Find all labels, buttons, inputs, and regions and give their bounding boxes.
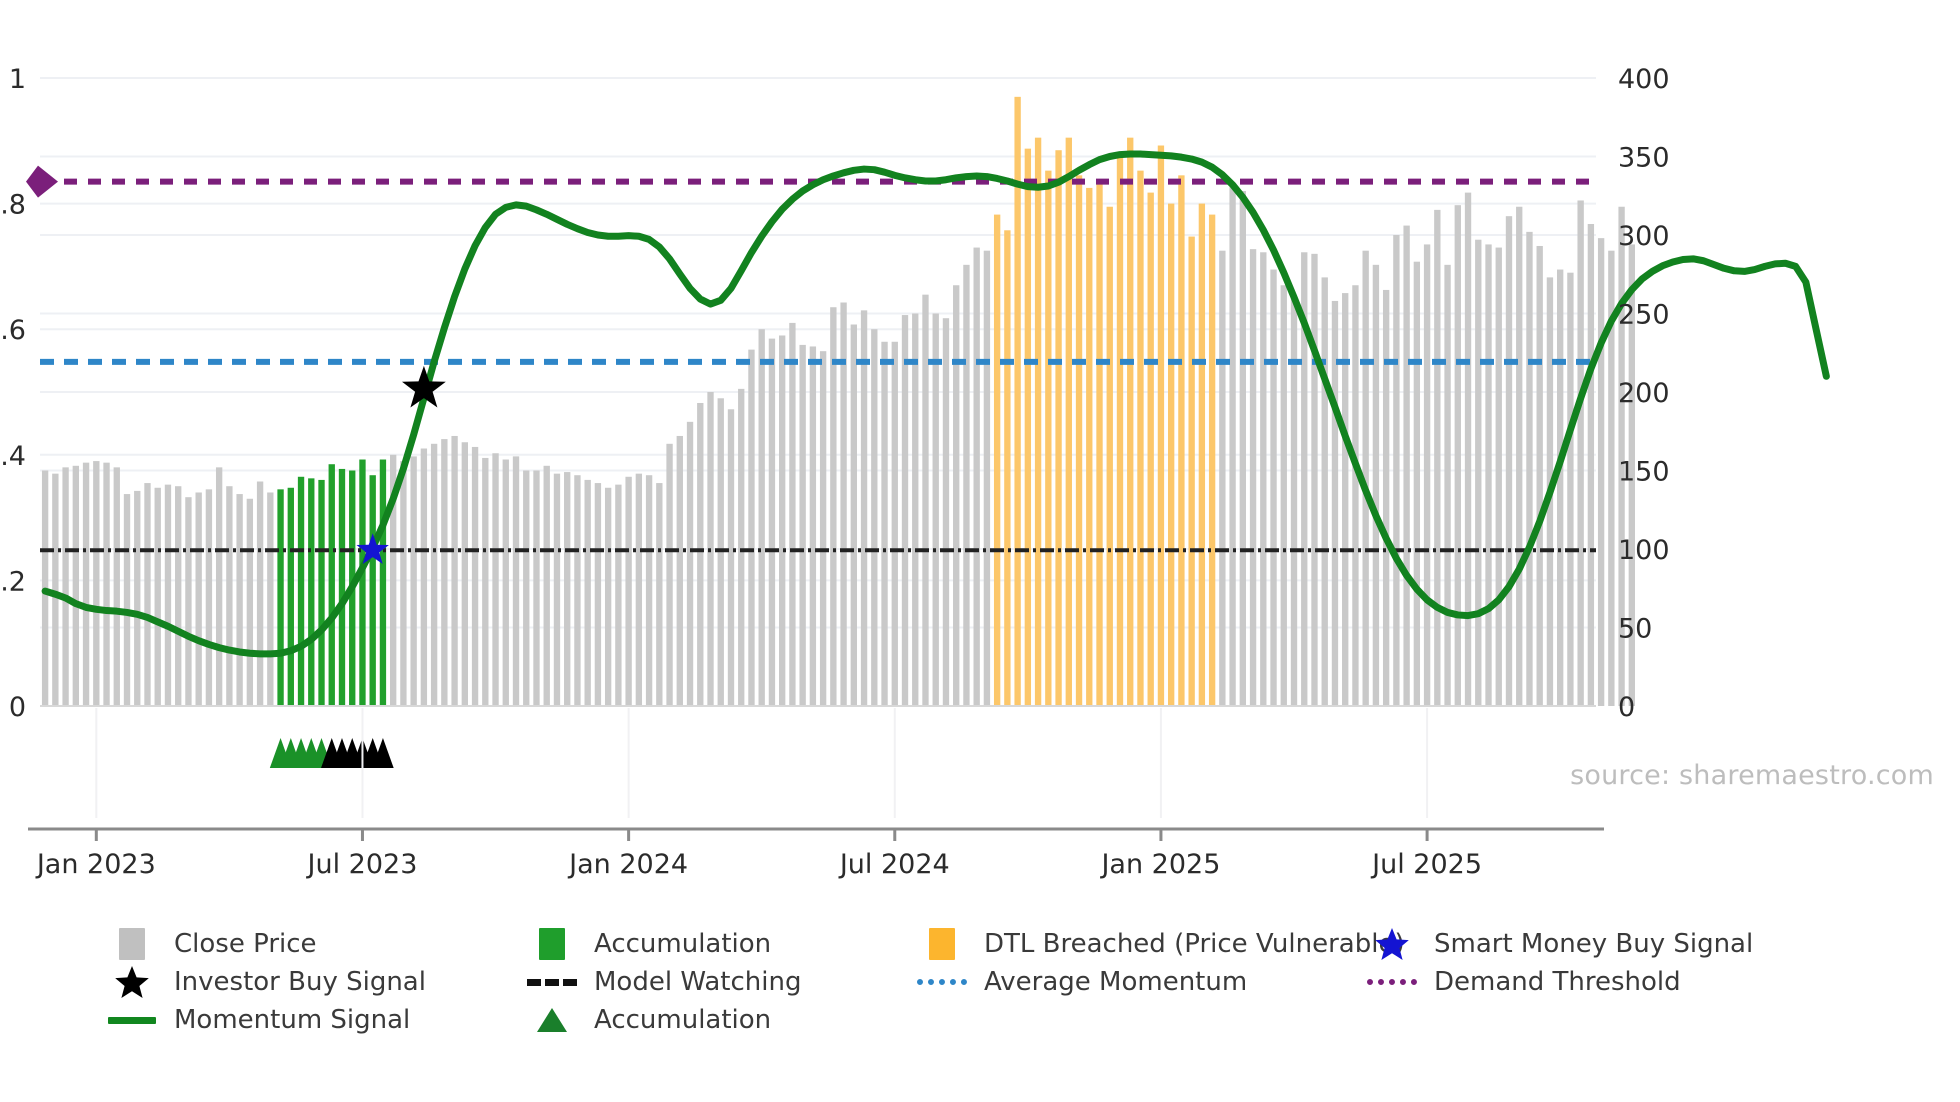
y-axis-left-tick: 0 bbox=[9, 692, 26, 723]
y-axis-right-tick: 150 bbox=[1618, 457, 1670, 488]
y-axis-right-tick: 100 bbox=[1618, 535, 1670, 566]
y-axis-left-tick: 0.6 bbox=[0, 315, 26, 346]
close-price-swatch-icon bbox=[104, 927, 160, 961]
legend-item-average-momentum[interactable]: Average Momentum bbox=[914, 963, 1364, 1001]
legend-label: Smart Money Buy Signal bbox=[1434, 929, 1753, 959]
x-axis-tick: Jul 2025 bbox=[1370, 849, 1482, 880]
legend-label: Model Watching bbox=[594, 967, 801, 997]
legend-label: Accumulation bbox=[594, 1005, 771, 1035]
x-axis-tick: Jan 2023 bbox=[35, 849, 156, 880]
legend-row-1: Close Price Accumulation DTL Breached (P… bbox=[104, 925, 1904, 963]
legend-label: DTL Breached (Price Vulnerable) bbox=[984, 929, 1405, 959]
legend-item-demand-threshold[interactable]: Demand Threshold bbox=[1364, 963, 1764, 1001]
momentum-signal-line-icon bbox=[104, 1003, 160, 1037]
legend-label: Accumulation bbox=[594, 929, 771, 959]
legend-label: Demand Threshold bbox=[1434, 967, 1681, 997]
chart-legend: Close Price Accumulation DTL Breached (P… bbox=[104, 925, 1904, 1039]
legend-item-accumulation-bar[interactable]: Accumulation bbox=[524, 925, 914, 963]
y-axis-right-tick: 50 bbox=[1618, 614, 1652, 645]
y-axis-left-tick: 0.4 bbox=[0, 441, 26, 472]
y-axis-right-tick: 400 bbox=[1618, 64, 1670, 95]
legend-item-investor-buy[interactable]: Investor Buy Signal bbox=[104, 963, 524, 1001]
legend-row-2: Investor Buy Signal Model Watching Avera… bbox=[104, 963, 1904, 1001]
demand-threshold-dotted-icon bbox=[1364, 965, 1420, 999]
momentum-chart: 00.20.40.60.81050100150200250300350400Ja… bbox=[0, 0, 1960, 1102]
investor-star-icon bbox=[104, 965, 160, 999]
y-axis-right-tick: 300 bbox=[1618, 221, 1670, 252]
average-momentum-dotted-icon bbox=[914, 965, 970, 999]
source-note: source: sharemaestro.com bbox=[1570, 760, 1934, 791]
y-axis-left-tick: 0.2 bbox=[0, 566, 26, 597]
dtl-breached-swatch-icon bbox=[914, 927, 970, 961]
accumulation-swatch-icon bbox=[524, 927, 580, 961]
legend-item-momentum-signal[interactable]: Momentum Signal bbox=[104, 1001, 524, 1039]
x-axis-tick: Jan 2024 bbox=[567, 849, 688, 880]
y-axis-left-tick: 0.8 bbox=[0, 190, 26, 221]
legend-item-model-watching[interactable]: Model Watching bbox=[524, 963, 914, 1001]
y-axis-right-tick: 200 bbox=[1618, 378, 1670, 409]
legend-label: Investor Buy Signal bbox=[174, 967, 426, 997]
x-axis-tick: Jul 2023 bbox=[306, 849, 418, 880]
y-axis-right-tick: 250 bbox=[1618, 300, 1670, 331]
model-watching-dash-icon bbox=[524, 965, 580, 999]
legend-label: Average Momentum bbox=[984, 967, 1247, 997]
x-axis-tick: Jan 2025 bbox=[1099, 849, 1220, 880]
legend-item-smart-money-buy[interactable]: Smart Money Buy Signal bbox=[1364, 925, 1764, 963]
legend-label: Momentum Signal bbox=[174, 1005, 410, 1035]
accumulation-triangle-icon bbox=[524, 1003, 580, 1037]
legend-label: Close Price bbox=[174, 929, 317, 959]
y-axis-right-tick: 350 bbox=[1618, 143, 1670, 174]
y-axis-right-tick: 0 bbox=[1618, 692, 1635, 723]
y-axis-left-tick: 1 bbox=[9, 64, 26, 95]
smart-money-star-icon bbox=[1364, 927, 1420, 961]
legend-item-accumulation-triangle[interactable]: Accumulation bbox=[524, 1001, 914, 1039]
legend-item-dtl-breached[interactable]: DTL Breached (Price Vulnerable) bbox=[914, 925, 1364, 963]
x-axis-tick: Jul 2024 bbox=[838, 849, 950, 880]
legend-row-3: Momentum Signal Accumulation bbox=[104, 1001, 1904, 1039]
legend-item-close-price[interactable]: Close Price bbox=[104, 925, 524, 963]
